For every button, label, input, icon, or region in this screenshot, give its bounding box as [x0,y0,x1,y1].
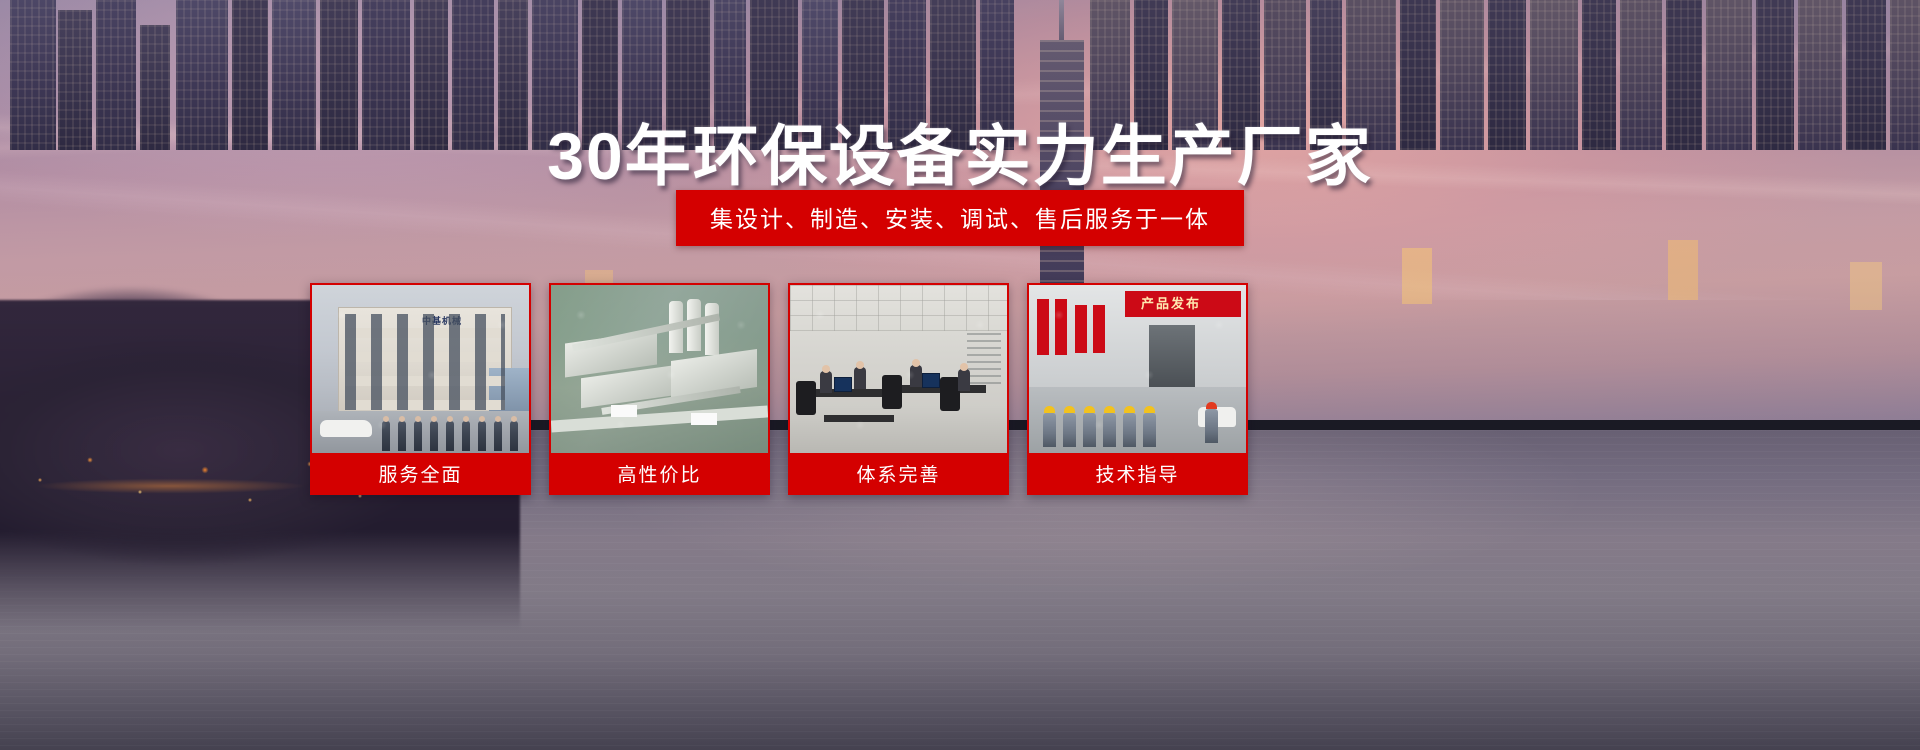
card-caption: 技术指导 [1029,453,1246,493]
hero-banner: 30年环保设备实力生产厂家 集设计、制造、安装、调试、售后服务于一体 中基机械 [0,0,1920,750]
card-image-workshop: 产品发布 [1029,285,1246,457]
feature-card[interactable]: 产品发布 技术指导 [1027,283,1248,495]
card-image-plant-aerial [551,285,768,457]
subtitle-banner: 集设计、制造、安装、调试、售后服务于一体 [676,190,1244,246]
feature-card[interactable]: 体系完善 [788,283,1009,495]
page-title: 30年环保设备实力生产厂家 [0,103,1920,199]
workshop-banner-text: 产品发布 [1141,297,1201,310]
feature-card[interactable]: 高性价比 [549,283,770,495]
card-caption: 服务全面 [312,453,529,493]
building-signage: 中基机械 [399,314,485,327]
card-caption: 高性价比 [551,453,768,493]
card-image-office-building: 中基机械 [312,285,529,457]
feature-card[interactable]: 中基机械 服务全面 [310,283,531,495]
card-image-office-workspace [790,285,1007,457]
card-caption: 体系完善 [790,453,1007,493]
feature-card-list: 中基机械 服务全面 [310,283,1260,495]
